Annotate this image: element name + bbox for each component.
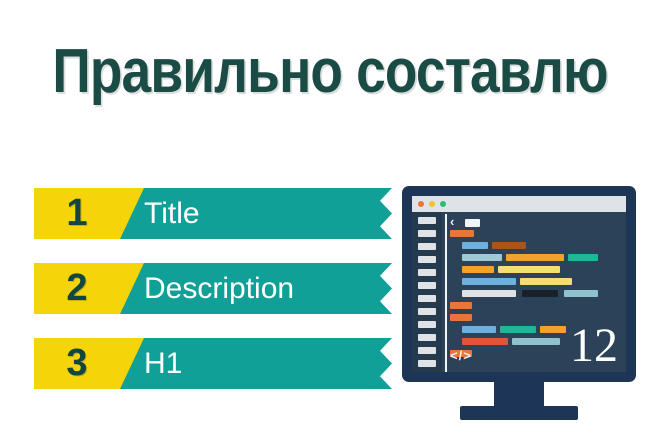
step-label-1: Title <box>144 188 200 239</box>
sidebar-block <box>418 243 436 250</box>
sidebar-block <box>418 282 436 289</box>
step-number-1: 1 <box>34 188 120 239</box>
sidebar-block <box>418 347 436 354</box>
step-number-3: 3 <box>34 338 120 389</box>
code-line-segment <box>462 254 502 261</box>
sidebar-block <box>418 217 436 224</box>
editor-sidebar <box>412 212 442 372</box>
sidebar-divider <box>445 214 447 372</box>
sidebar-block <box>418 308 436 315</box>
code-line-segment <box>492 242 526 249</box>
code-line-segment <box>520 278 572 285</box>
code-line-segment <box>512 338 560 345</box>
monitor-screen: ‹ › </> 12 <box>412 196 626 372</box>
code-tag-close-icon: </> <box>450 348 472 363</box>
sidebar-block <box>418 334 436 341</box>
code-line-segment <box>564 290 598 297</box>
code-line-segment <box>462 326 496 333</box>
step-number-2: 2 <box>34 263 120 314</box>
code-line-segment <box>498 266 560 273</box>
code-line-segment <box>462 338 508 345</box>
sidebar-block <box>418 230 436 237</box>
step-label-2: Description <box>144 263 294 314</box>
code-line-segment <box>462 290 516 297</box>
page-title: Правильно составлю <box>46 36 614 108</box>
sidebar-block <box>418 269 436 276</box>
window-titlebar <box>412 196 626 212</box>
code-line-segment <box>462 278 516 285</box>
maximize-dot-icon[interactable] <box>440 201 446 207</box>
code-line-segment <box>450 302 472 309</box>
slide-canvas: Правильно составлю 1 Title 2 Description… <box>0 0 660 440</box>
monitor-stand-neck <box>494 379 544 409</box>
overlay-number: 12 <box>570 322 618 370</box>
sidebar-block <box>418 321 436 328</box>
sidebar-block <box>418 360 436 367</box>
step-banner-2[interactable]: 2 Description <box>34 263 392 314</box>
code-line-segment <box>450 230 474 237</box>
sidebar-block <box>418 256 436 263</box>
step-banner-1[interactable]: 1 Title <box>34 188 392 239</box>
close-dot-icon[interactable] <box>418 201 424 207</box>
code-tag-box-icon <box>465 219 480 227</box>
code-line-segment <box>450 314 472 321</box>
step-banner-3[interactable]: 3 H1 <box>34 338 392 389</box>
code-line-segment <box>522 290 558 297</box>
monitor-illustration: ‹ › </> 12 <box>402 186 636 440</box>
code-line-segment <box>540 326 566 333</box>
code-line-segment <box>506 254 564 261</box>
code-line-segment <box>500 326 536 333</box>
minimize-dot-icon[interactable] <box>429 201 435 207</box>
monitor-stand-base <box>460 406 578 420</box>
code-line-segment <box>462 242 488 249</box>
step-label-3: H1 <box>144 338 182 389</box>
sidebar-block <box>418 295 436 302</box>
code-line-segment <box>568 254 598 261</box>
code-line-segment <box>462 266 494 273</box>
